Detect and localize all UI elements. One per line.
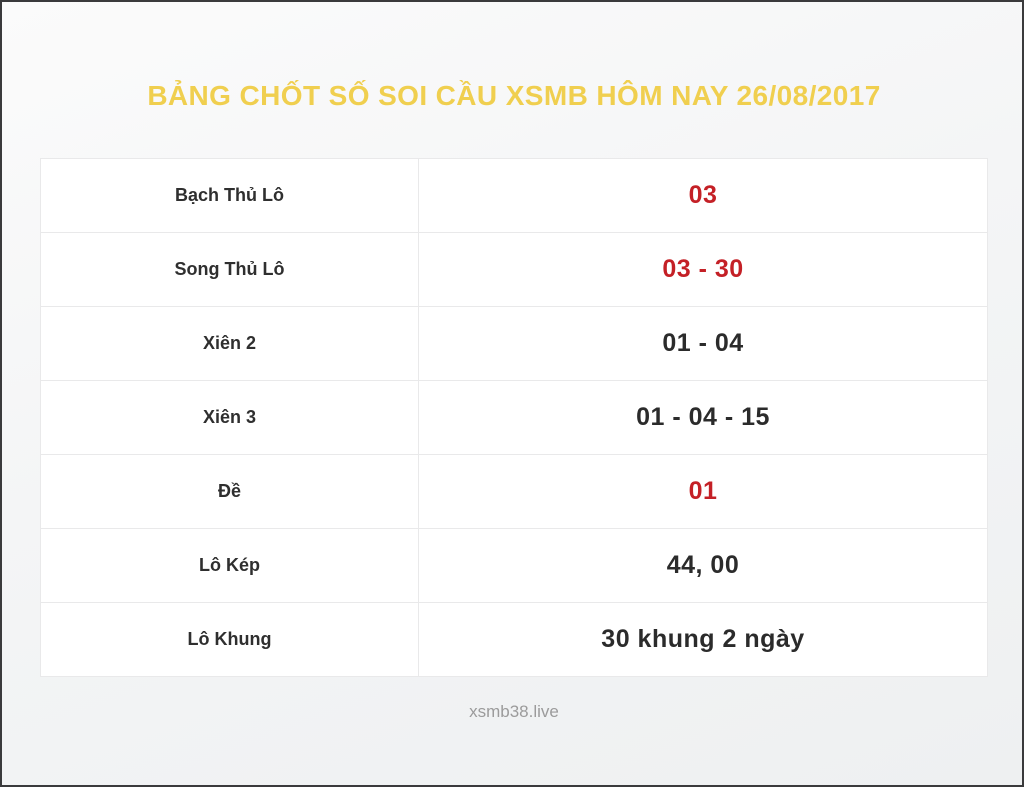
row-value: 01 - 04 - 15 [419,381,987,454]
table-row: Bạch Thủ Lô 03 [41,159,987,233]
prediction-table: Bạch Thủ Lô 03 Song Thủ Lô 03 - 30 Xiên … [40,158,988,677]
row-label: Song Thủ Lô [41,233,419,306]
row-label: Xiên 2 [41,307,419,380]
row-label: Lô Kép [41,529,419,602]
row-value: 03 [419,159,987,232]
row-label: Bạch Thủ Lô [41,159,419,232]
table-row: Xiên 2 01 - 04 [41,307,987,381]
table-row: Xiên 3 01 - 04 - 15 [41,381,987,455]
row-label: Đề [41,455,419,528]
table-row: Lô Khung 30 khung 2 ngày [41,603,987,677]
table-row: Lô Kép 44, 00 [41,529,987,603]
watermark: xsmb38.live [40,702,988,722]
page-title: BẢNG CHỐT SỐ SOI CẦU XSMB HÔM NAY 26/08/… [40,80,988,112]
row-value: 03 - 30 [419,233,987,306]
row-value: 30 khung 2 ngày [419,603,987,676]
row-value: 44, 00 [419,529,987,602]
table-row: Song Thủ Lô 03 - 30 [41,233,987,307]
row-value: 01 - 04 [419,307,987,380]
row-value: 01 [419,455,987,528]
row-label: Xiên 3 [41,381,419,454]
table-row: Đề 01 [41,455,987,529]
page-container: BẢNG CHỐT SỐ SOI CẦU XSMB HÔM NAY 26/08/… [0,0,1024,787]
row-label: Lô Khung [41,603,419,676]
